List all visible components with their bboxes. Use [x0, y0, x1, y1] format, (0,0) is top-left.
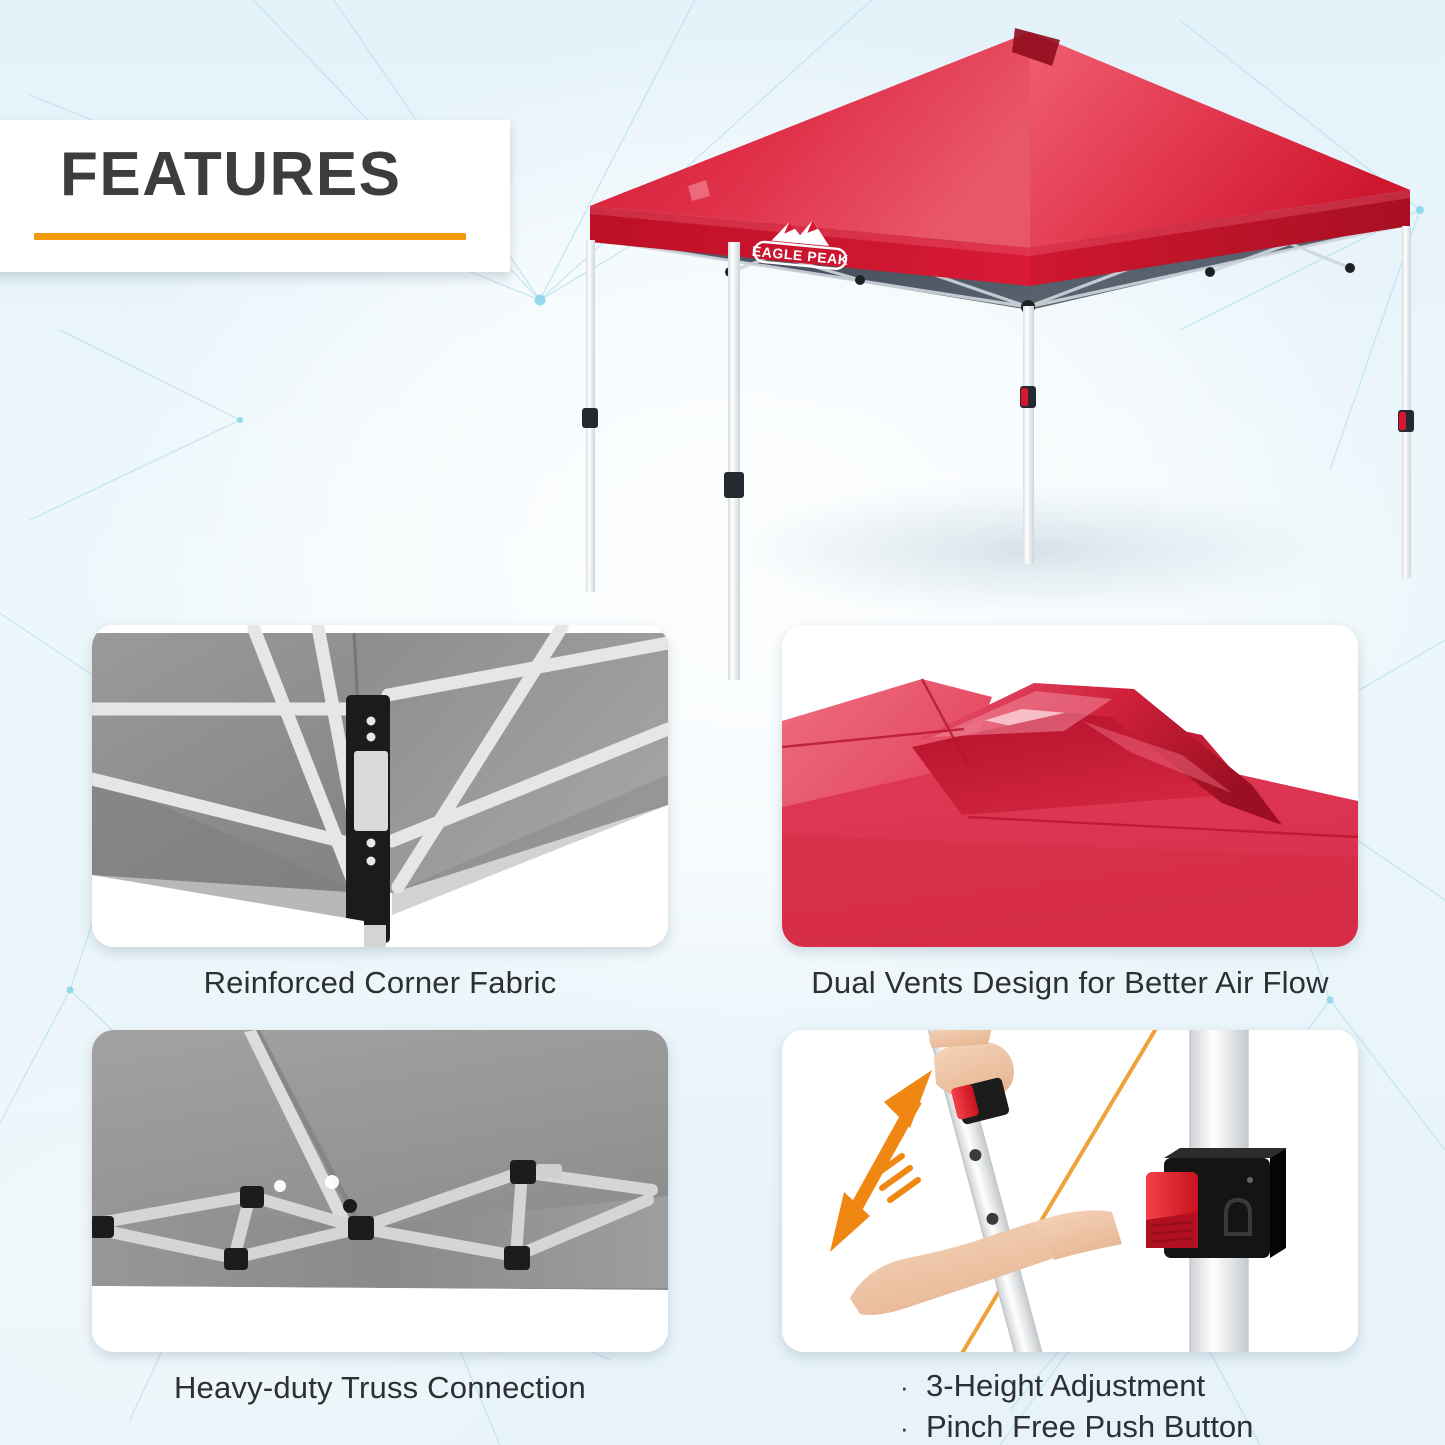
caption-reinforced-corner: Reinforced Corner Fabric [92, 965, 668, 1001]
photo-height-adjustment [782, 1030, 1358, 1352]
hero-canopy-illustration: EAGLE PEAK [560, 10, 1440, 690]
infographic-page: EAGLE PEAK FEATURES [0, 0, 1445, 1445]
page-title: FEATURES [60, 144, 402, 206]
height-adjustment-illustration [782, 1030, 1358, 1352]
bullet-label-height: 3-Height Adjustment [926, 1366, 1205, 1407]
truss-connection-illustration [92, 1030, 668, 1352]
photo-truss-connection [92, 1030, 668, 1352]
bullet-marker-icon: · [900, 1370, 926, 1404]
photo-dual-vents [782, 625, 1358, 947]
canopy-leg-right [1402, 226, 1411, 578]
push-button-housing [1146, 1148, 1286, 1258]
bullet-marker-icon: · [900, 1411, 926, 1445]
bullet-item: · 3-Height Adjustment [900, 1366, 1253, 1407]
dual-vents-illustration [782, 625, 1358, 947]
height-adjustment-bullets: · 3-Height Adjustment · Pinch Free Push … [900, 1366, 1253, 1445]
photo-reinforced-corner [92, 625, 668, 947]
canopy-leg-center [1023, 306, 1034, 564]
caption-truss-connection: Heavy-duty Truss Connection [92, 1370, 668, 1406]
title-underline-rule [34, 233, 466, 240]
bullet-item: · Pinch Free Push Button [900, 1407, 1253, 1445]
canopy-leg-front-left [728, 242, 740, 680]
caption-dual-vents: Dual Vents Design for Better Air Flow [782, 965, 1358, 1001]
bullet-label-pinch: Pinch Free Push Button [926, 1407, 1253, 1445]
reinforced-corner-illustration [92, 625, 668, 947]
features-title-card: FEATURES [0, 120, 510, 272]
